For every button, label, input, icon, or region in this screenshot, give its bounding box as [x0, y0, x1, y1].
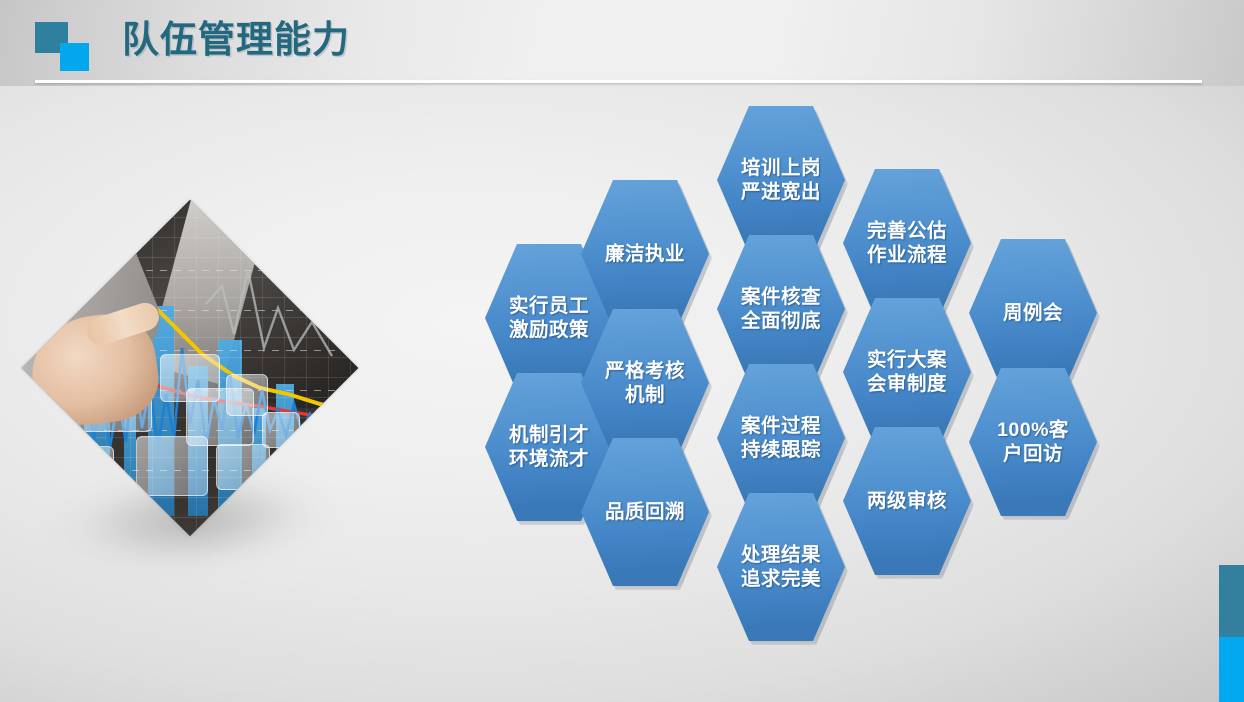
- hexagon-label: 严格考核 机制: [605, 359, 685, 407]
- hexagon-label: 处理结果 追求完美: [741, 543, 821, 591]
- hexagon-label: 机制引才 环境流才: [509, 423, 589, 471]
- hexagon-label: 实行员工 激励政策: [509, 294, 589, 342]
- hexagon-label: 案件核查 全面彻底: [741, 285, 821, 333]
- hexagon-label: 两级审核: [867, 489, 947, 513]
- hexagon-label: 培训上岗 严进宽出: [741, 156, 821, 204]
- hexagon-label: 实行大案 会审制度: [867, 348, 947, 396]
- hexagon-label: 案件过程 持续跟踪: [741, 414, 821, 462]
- hexagon-label: 品质回溯: [605, 500, 685, 524]
- hexagon-label: 周例会: [1003, 301, 1063, 325]
- hexagon-label: 完善公估 作业流程: [867, 219, 947, 267]
- hexagon-honeycomb: 实行员工 激励政策机制引才 环境流才廉洁执业严格考核 机制品质回溯培训上岗 严进…: [0, 0, 1244, 702]
- hexagon-label: 廉洁执业: [605, 242, 685, 266]
- presentation-slide: 队伍管理能力: [0, 0, 1244, 702]
- hexagon-label: 100%客 户回访: [997, 418, 1069, 466]
